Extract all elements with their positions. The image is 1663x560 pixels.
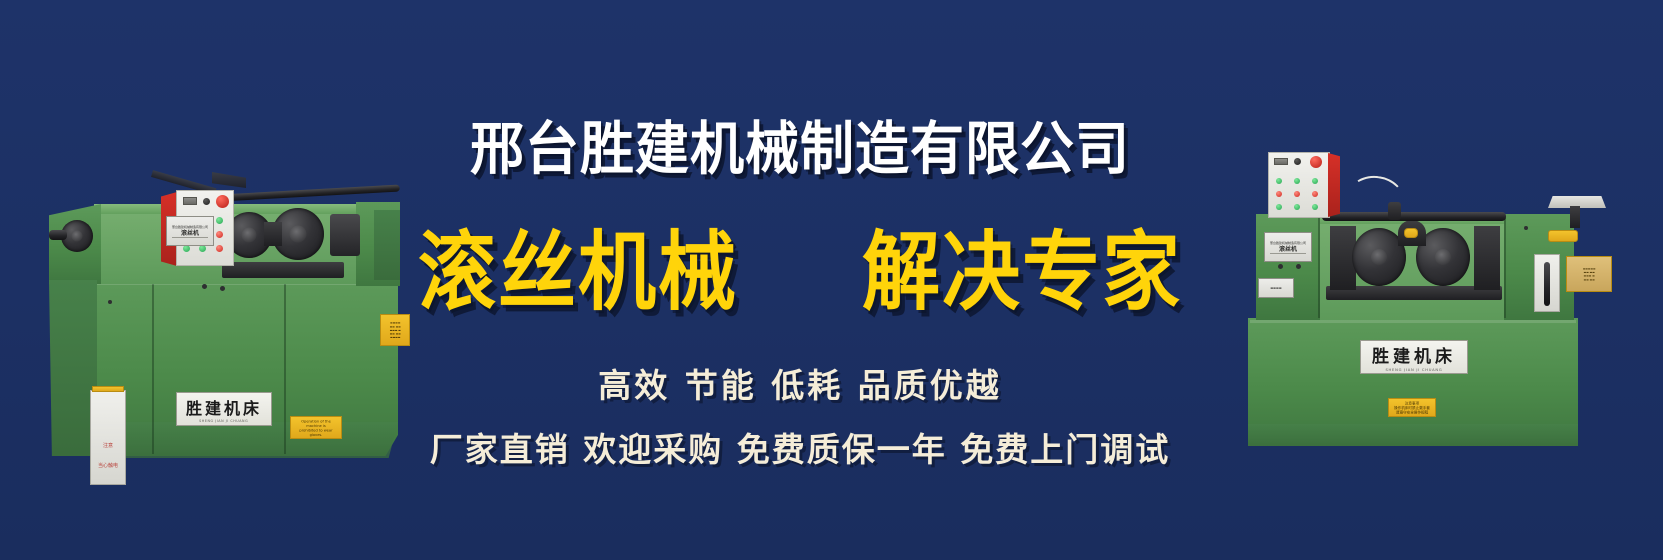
brand-name-pinyin: SHENG JIAN JI CHUANG <box>199 419 248 423</box>
company-name: 邢台胜建机械制造有限公司 <box>470 102 1130 186</box>
selector-knob-icon[interactable] <box>1294 158 1301 165</box>
panel-button[interactable] <box>216 217 223 224</box>
promotional-banner: 邢台胜建机械制造有限公司 滚丝机 胜建机床 SHENG JIAN JI CHUA… <box>0 0 1663 560</box>
spec-plate-line-2: 滚丝机 <box>1279 247 1297 252</box>
connector-block <box>1548 230 1578 242</box>
spec-plate-line-2: 滚丝机 <box>181 231 199 236</box>
headline: 滚丝机械 解决专家 <box>418 209 1182 321</box>
spec-plate-divider <box>172 237 209 238</box>
panel-button[interactable] <box>1294 191 1300 197</box>
headline-right: 解决专家 <box>862 203 1182 326</box>
cabinet-top-label <box>92 386 124 392</box>
warning-label-body: Operation of the machine is prohibited t… <box>294 419 339 437</box>
spec-label-text: ▬▬▬▬▬ ▬▬ ▬▬ ▬▬▬ ▬ ▬▬ ▬▬ <box>1583 267 1596 281</box>
control-panel-right[interactable] <box>1268 152 1340 218</box>
tagline-secondary: 厂家直销 欢迎采购 免费质保一年 免费上门调试 <box>430 423 1170 471</box>
brand-name: 胜建机床 <box>1372 342 1456 367</box>
spec-label-text: ▬▬▬▬ ▬▬ ▬▬ ▬▬▬ ▬ ▬▬ ▬▬ ▬▬▬▬ <box>389 321 400 339</box>
panel-button[interactable] <box>216 245 223 252</box>
spec-plate-right: 邢台胜建机械制造有限公司 滚丝机 <box>1264 232 1312 262</box>
selector-knob-icon[interactable] <box>203 198 210 205</box>
spec-plate-left: 邢台胜建机械制造有限公司 滚丝机 <box>166 216 214 246</box>
roller-center-marker <box>1404 228 1418 238</box>
emergency-stop-button[interactable] <box>1310 156 1322 168</box>
side-cabinet-label-1: 注意 <box>91 443 125 450</box>
emergency-stop-button[interactable] <box>216 195 229 208</box>
headline-left: 滚丝机械 <box>418 203 738 326</box>
machine-left-image: 邢台胜建机械制造有限公司 滚丝机 胜建机床 SHENG JIAN JI CHUA… <box>34 92 424 474</box>
spec-plate-line-1: 邢台胜建机械制造有限公司 <box>1270 241 1306 246</box>
side-cabinet-left: 注意 当心触电 <box>90 390 126 485</box>
machine-right-image: ▬▬▬▬▬ ▬▬ ▬▬ ▬▬▬ ▬ ▬▬ ▬▬ 邢台胜建机械制造有限公司 滚丝机 <box>1248 128 1648 458</box>
panel-button[interactable] <box>199 245 206 252</box>
brand-nameplate-right: 胜建机床 SHENG JIAN JI CHUANG <box>1360 340 1468 374</box>
brand-name: 胜建机床 <box>186 395 262 419</box>
panel-button[interactable] <box>1312 178 1318 184</box>
panel-button[interactable] <box>183 245 190 252</box>
panel-button[interactable] <box>1312 204 1318 210</box>
panel-button[interactable] <box>1294 204 1300 210</box>
panel-button[interactable] <box>1294 178 1300 184</box>
spec-label-right-end: ▬▬▬▬▬ ▬▬ ▬▬ ▬▬▬ ▬ ▬▬ ▬▬ <box>1566 256 1612 292</box>
brand-name-pinyin: SHENG JIAN JI CHUANG <box>1385 367 1442 372</box>
spec-label-left-end: ▬▬▬▬ ▬▬ ▬▬ ▬▬▬ ▬ ▬▬ ▬▬ ▬▬▬▬ <box>380 314 410 346</box>
warning-label-right: 注意事项 操作机床时禁止戴手套 请遵守安全操作规程 <box>1388 398 1436 417</box>
panel-button[interactable] <box>1276 191 1282 197</box>
tagline-primary: 高效 节能 低耗 品质优越 <box>598 359 1001 407</box>
panel-button[interactable] <box>216 231 223 238</box>
spec-plate-divider <box>1270 253 1307 254</box>
panel-button[interactable] <box>1276 204 1282 210</box>
spec-plate-line-1: 邢台胜建机械制造有限公司 <box>172 225 208 230</box>
banner-copy: 邢台胜建机械制造有限公司 滚丝机械 解决专家 高效 节能 低耗 品质优越 厂家直… <box>400 0 1200 560</box>
aux-plate-right: ▬▬▬▬ <box>1258 278 1294 298</box>
warning-label-left: Operation of the machine is prohibited t… <box>290 416 342 439</box>
warning-label-body: 注意事项 操作机床时禁止戴手套 请遵守安全操作规程 <box>1394 401 1430 415</box>
panel-button[interactable] <box>1276 178 1282 184</box>
brand-nameplate-left: 胜建机床 SHENG JIAN JI CHUANG <box>176 392 272 426</box>
aux-plate-text: ▬▬▬▬ <box>1270 286 1281 290</box>
side-cabinet-label-2: 当心触电 <box>91 463 125 470</box>
panel-button[interactable] <box>1312 191 1318 197</box>
